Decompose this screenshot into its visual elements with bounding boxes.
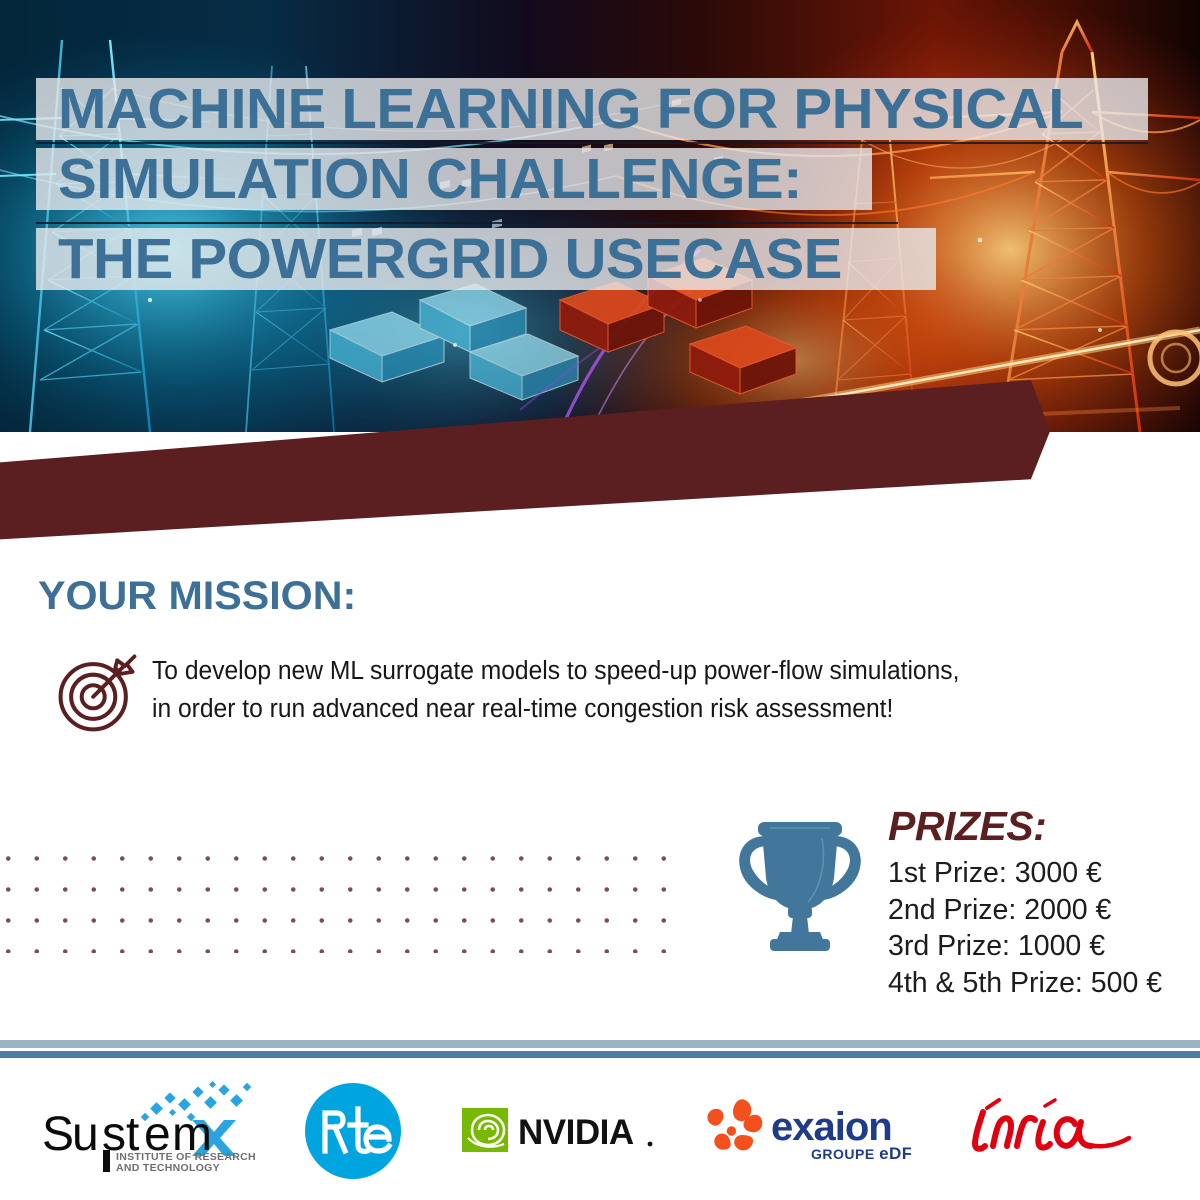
prizes-list: 1st Prize: 3000 € 2nd Prize: 2000 € 3rd … (888, 855, 1162, 1001)
nvidia-wordmark: NVIDIA (518, 1113, 634, 1152)
prize-item: 1st Prize: 3000 € (888, 855, 1162, 892)
prize-item: 2nd Prize: 2000 € (888, 892, 1162, 929)
svg-text:S: S (42, 1108, 74, 1161)
title-line-2-text: SIMULATION CHALLENGE: (58, 151, 802, 208)
mission-line-1: To develop new ML surrogate models to sp… (152, 652, 1078, 690)
mission-line-2: in order to run advanced near real-time … (152, 690, 1078, 728)
logo-systemx: S u s t e m INSTITUTE OF RESEARCH AND TE… (42, 1078, 262, 1174)
target-icon (50, 643, 146, 739)
poster-root: MACHINE LEARNING FOR PHYSICAL SIMULATION… (0, 0, 1200, 1200)
title-line-1-text: MACHINE LEARNING FOR PHYSICAL (58, 81, 1083, 138)
logo-nvidia: NVIDIA (462, 1104, 658, 1156)
logo-exaion: exaion GROUPE eDF (703, 1094, 911, 1166)
title-divider-1 (36, 142, 1148, 144)
logo-rte (303, 1081, 403, 1181)
prize-item: 4th & 5th Prize: 500 € (888, 965, 1162, 1002)
exaion-wordmark: exaion (771, 1105, 892, 1149)
title-line-2: SIMULATION CHALLENGE: (36, 148, 872, 210)
title-line-1: MACHINE LEARNING FOR PHYSICAL (36, 78, 1148, 140)
poster-title: MACHINE LEARNING FOR PHYSICAL SIMULATION… (0, 0, 1200, 432)
svg-text:u: u (72, 1108, 99, 1161)
mission-heading: YOUR MISSION: (38, 574, 356, 619)
title-line-3-text: THE POWERGRID USECASE (58, 231, 842, 288)
title-line-3: THE POWERGRID USECASE (36, 228, 936, 290)
trophy-icon (730, 806, 870, 956)
prize-item: 3rd Prize: 1000 € (888, 928, 1162, 965)
mission-description: To develop new ML surrogate models to sp… (152, 652, 1078, 728)
title-divider-2 (36, 222, 898, 224)
dot-grid-decoration (0, 843, 680, 953)
footer-divider-light (0, 1040, 1200, 1048)
prizes-heading: PRIZES: (888, 803, 1046, 850)
footer-divider-dark (0, 1051, 1200, 1058)
systemx-tagline-2: AND TECHNOLOGY (116, 1162, 220, 1174)
exaion-tagline: GROUPE eDF (811, 1144, 911, 1163)
logo-inria (963, 1098, 1133, 1160)
